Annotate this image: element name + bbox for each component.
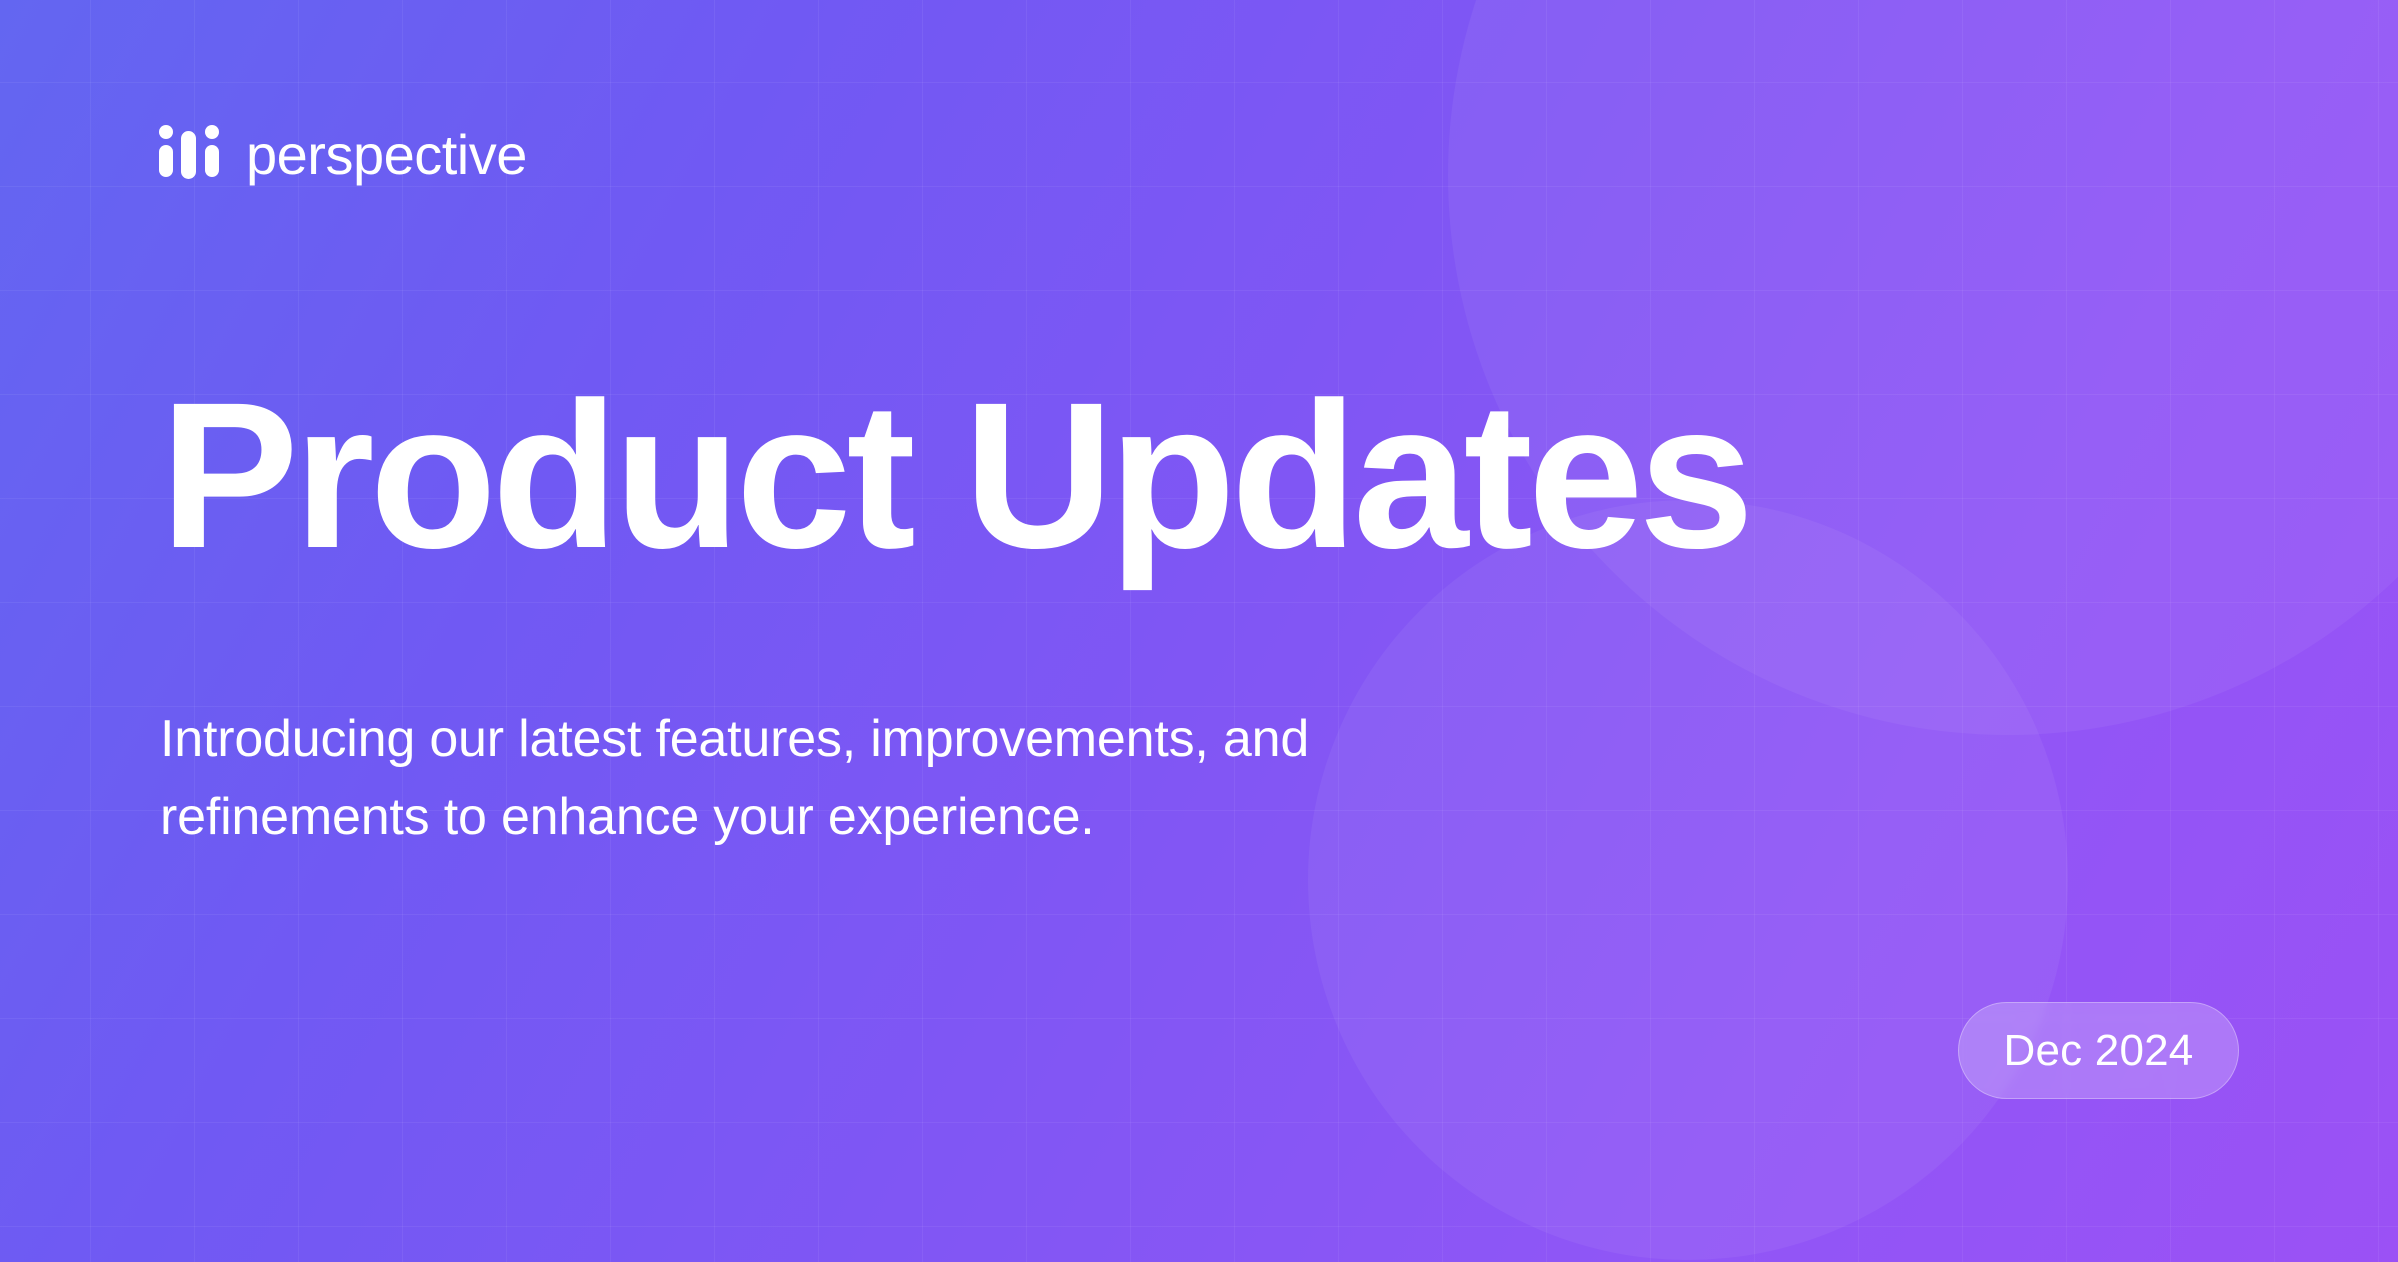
page-subtitle: Introducing our latest features, improve… xyxy=(160,700,1560,856)
decorative-circle-lower-right xyxy=(1308,500,2068,1260)
three-bars-logo-icon xyxy=(158,125,220,185)
brand-wordmark: perspective xyxy=(246,127,527,183)
subtitle-line-1: Introducing our latest features, improve… xyxy=(160,700,1560,778)
page-title: Product Updates xyxy=(160,372,1749,580)
product-updates-hero: perspective Product Updates Introducing … xyxy=(0,0,2398,1262)
brand-logo[interactable]: perspective xyxy=(158,118,527,192)
subtitle-line-2: refinements to enhance your experience. xyxy=(160,778,1560,856)
date-badge[interactable]: Dec 2024 xyxy=(1958,1002,2239,1099)
